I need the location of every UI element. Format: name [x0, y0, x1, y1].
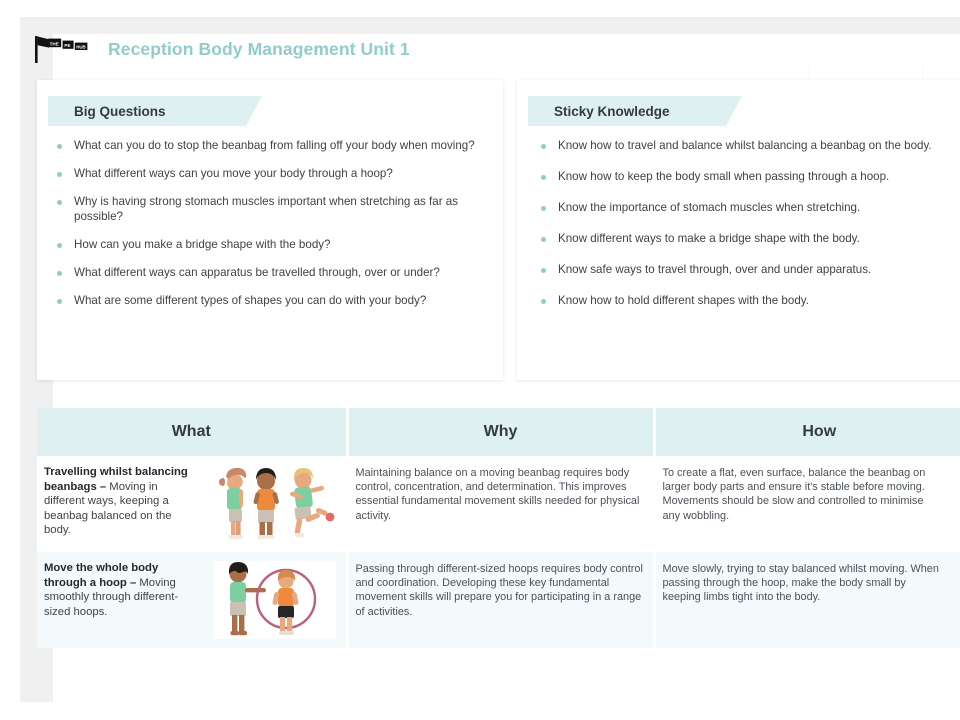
- how-line: To create a flat, even surface, balance …: [663, 466, 960, 480]
- list-item: Know different ways to make a bridge sha…: [541, 231, 960, 246]
- what-why-how-table: What Why How Travelling whilst balancing…: [37, 408, 960, 648]
- what-description: Move the whole body through a hoop – Mov…: [44, 561, 194, 619]
- big-questions-list: What can you do to stop the beanbag from…: [57, 138, 489, 321]
- how-cell: Move slowly, trying to stay balanced whi…: [654, 552, 960, 648]
- list-item: What can you do to stop the beanbag from…: [57, 138, 489, 153]
- list-item-label: Know how to hold different shapes with t…: [558, 293, 809, 308]
- table-header-row: What Why How: [37, 408, 960, 456]
- svg-text:THE: THE: [50, 41, 59, 46]
- what-cell: Travelling whilst balancing beanbags – M…: [37, 456, 347, 552]
- sticky-knowledge-panel: Sticky Knowledge Know how to travel and …: [517, 80, 960, 380]
- child-holding-hoop-illustration: [200, 561, 346, 639]
- list-item-label: What are some different types of shapes …: [74, 293, 426, 308]
- list-item-label: What can you do to stop the beanbag from…: [74, 138, 475, 153]
- list-item: Know how to hold different shapes with t…: [541, 293, 960, 308]
- svg-text:PE: PE: [64, 43, 70, 48]
- what-cell: Move the whole body through a hoop – Mov…: [37, 552, 347, 648]
- big-questions-heading-band: Big Questions: [48, 96, 262, 126]
- list-item: What different ways can apparatus be tra…: [57, 265, 489, 280]
- sticky-knowledge-heading: Sticky Knowledge: [554, 104, 670, 119]
- bullet-dot-icon: [541, 268, 546, 273]
- bullet-dot-icon: [541, 299, 546, 304]
- three-children-standing-and-running-illustration: [200, 465, 346, 543]
- sticky-knowledge-list: Know how to travel and balance whilst ba…: [541, 138, 960, 324]
- page-title: Reception Body Management Unit 1: [108, 39, 410, 60]
- bullet-dot-icon: [57, 243, 62, 248]
- list-item-label: Know how to keep the body small when pas…: [558, 169, 889, 184]
- why-description: Passing through different-sized hoops re…: [349, 552, 653, 631]
- how-cell: To create a flat, even surface, balance …: [654, 456, 960, 552]
- how-description: To create a flat, even surface, balance …: [656, 456, 960, 535]
- list-item: Know safe ways to travel through, over a…: [541, 262, 960, 277]
- list-item-label: How can you make a bridge shape with the…: [74, 237, 331, 252]
- big-questions-heading: Big Questions: [74, 104, 166, 119]
- how-description: Move slowly, trying to stay balanced whi…: [656, 552, 960, 617]
- list-item-label: Know how to travel and balance whilst ba…: [558, 138, 932, 153]
- bullet-dot-icon: [57, 172, 62, 177]
- list-item-label: What different ways can you move your bo…: [74, 166, 393, 181]
- sticky-knowledge-heading-band: Sticky Knowledge: [528, 96, 742, 126]
- list-item: Know how to keep the body small when pas…: [541, 169, 960, 184]
- how-line: any wobbling.: [663, 509, 960, 523]
- list-item: Know the importance of stomach muscles w…: [541, 200, 960, 215]
- what-description: Travelling whilst balancing beanbags – M…: [44, 465, 194, 538]
- what-why-how-table-card: What Why How Travelling whilst balancing…: [37, 408, 960, 648]
- bullet-dot-icon: [541, 144, 546, 149]
- list-item-label: Why is having strong stomach muscles imp…: [74, 194, 489, 224]
- column-header-what: What: [37, 408, 347, 456]
- list-item: Why is having strong stomach muscles imp…: [57, 194, 489, 224]
- bullet-dot-icon: [541, 206, 546, 211]
- list-item-label: Know different ways to make a bridge sha…: [558, 231, 860, 246]
- svg-text:HUB: HUB: [76, 45, 86, 50]
- how-line: keeping limbs tight into the body.: [663, 590, 960, 604]
- big-questions-panel: Big Questions What can you do to stop th…: [37, 80, 503, 380]
- bullet-dot-icon: [541, 237, 546, 242]
- the-pe-hub-flag-logo: THE PE HUB: [33, 34, 90, 64]
- table-row: Travelling whilst balancing beanbags – M…: [37, 456, 960, 552]
- page-header: THE PE HUB Reception Body Management Uni…: [33, 28, 410, 70]
- how-line: larger body parts and ensure it's stable…: [663, 480, 960, 494]
- table-row: Move the whole body through a hoop – Mov…: [37, 552, 960, 648]
- bullet-dot-icon: [57, 144, 62, 149]
- bullet-dot-icon: [541, 175, 546, 180]
- bullet-dot-icon: [57, 271, 62, 276]
- column-header-why: Why: [347, 408, 654, 456]
- list-item-label: Know the importance of stomach muscles w…: [558, 200, 860, 215]
- how-line: Movements should be slow and controlled …: [663, 494, 960, 508]
- list-item: What are some different types of shapes …: [57, 293, 489, 308]
- list-item-label: Know safe ways to travel through, over a…: [558, 262, 871, 277]
- how-line: Move slowly, trying to stay balanced whi…: [663, 562, 960, 576]
- list-item-label: What different ways can apparatus be tra…: [74, 265, 440, 280]
- bullet-dot-icon: [57, 299, 62, 304]
- how-line: passing through the hoop, make the body …: [663, 576, 960, 590]
- why-cell: Maintaining balance on a moving beanbag …: [347, 456, 654, 552]
- column-header-how: How: [654, 408, 960, 456]
- list-item: How can you make a bridge shape with the…: [57, 237, 489, 252]
- bullet-dot-icon: [57, 200, 62, 205]
- list-item: Know how to travel and balance whilst ba…: [541, 138, 960, 153]
- list-item: What different ways can you move your bo…: [57, 166, 489, 181]
- why-description: Maintaining balance on a moving beanbag …: [349, 456, 653, 535]
- why-cell: Passing through different-sized hoops re…: [347, 552, 654, 648]
